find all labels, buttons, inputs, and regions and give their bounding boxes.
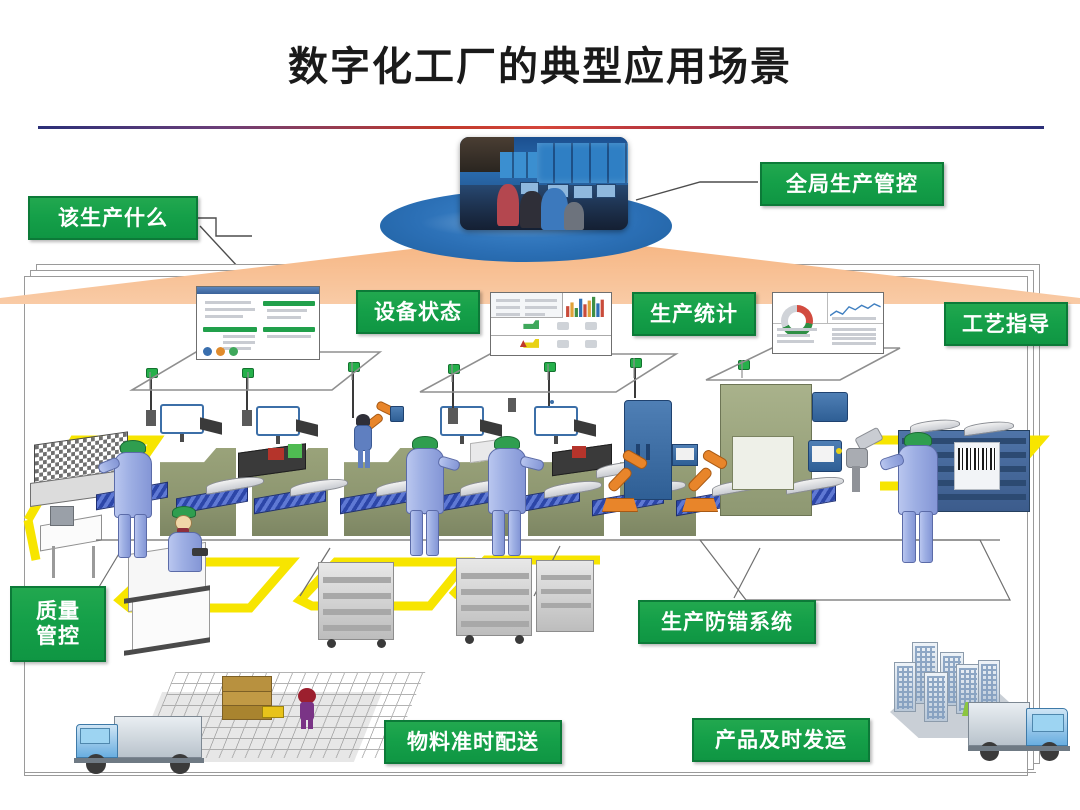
callout-label-error-proofing[interactable]: 生产防错系统 [638, 600, 816, 644]
slide-root: 数字化工厂的典型应用场景 [0, 0, 1080, 810]
small-device [50, 506, 74, 526]
callout-label-global-production[interactable]: 全局生产管控 [760, 162, 944, 206]
callout-label-equipment-status[interactable]: 设备状态 [356, 290, 480, 334]
machine-display [812, 392, 848, 422]
shelf-cart [536, 560, 594, 632]
callout-label-quality-control[interactable]: 质量 管控 [10, 586, 106, 662]
erp-form-screen [196, 286, 320, 360]
factory-scene [0, 0, 1080, 810]
callout-label-what-to-produce[interactable]: 该生产什么 [28, 196, 198, 240]
callout-label-process-guidance[interactable]: 工艺指导 [944, 302, 1068, 346]
barcode-icon [958, 448, 996, 470]
callout-label-product-shipping[interactable]: 产品及时发运 [692, 718, 870, 762]
statistics-screen [772, 292, 884, 354]
shelf-cart [456, 558, 532, 636]
truck-wheel [170, 754, 190, 774]
callout-label-production-statistics[interactable]: 生产统计 [632, 292, 756, 336]
truck-wheel [86, 754, 106, 774]
callout-label-material-delivery[interactable]: 物料准时配送 [384, 720, 562, 764]
equipment-status-screen [490, 292, 612, 356]
shelf-cart [318, 562, 394, 640]
truck-wheel [980, 742, 999, 761]
control-room-photo [460, 137, 628, 230]
yellow-pallet [262, 706, 284, 718]
truck-wheel [1040, 742, 1059, 761]
